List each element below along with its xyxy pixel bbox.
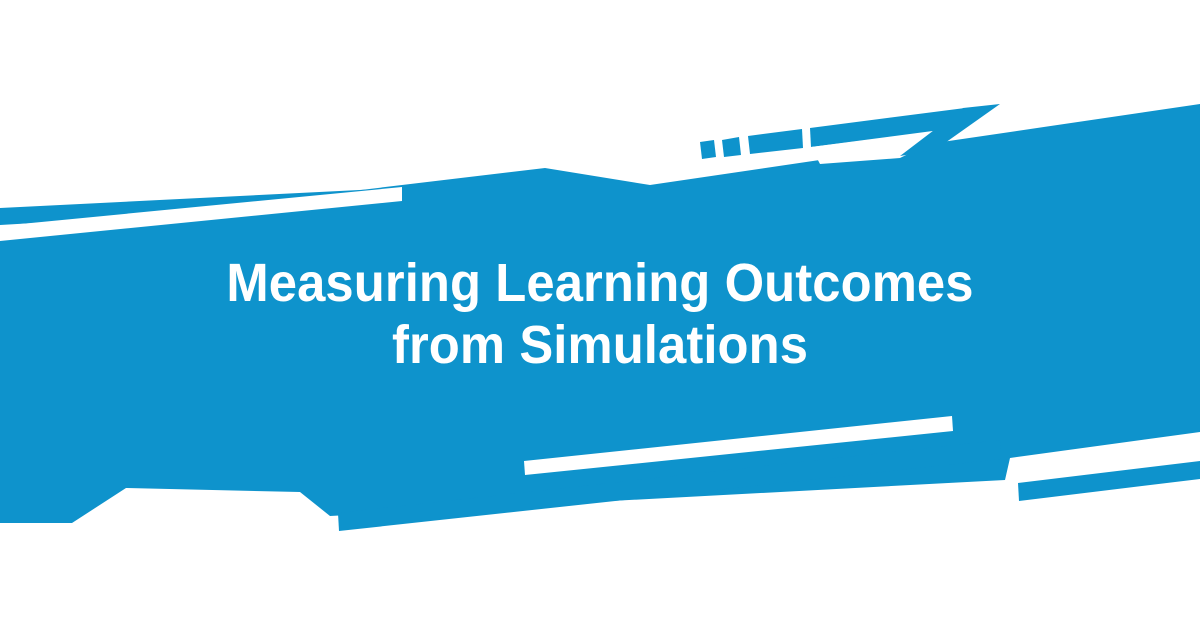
dash-1-icon xyxy=(700,140,716,159)
banner-graphic: Measuring Learning Outcomes from Simulat… xyxy=(0,0,1200,630)
dash-3-icon xyxy=(748,129,803,154)
dash-2-icon xyxy=(722,137,741,157)
banner-background-art xyxy=(0,0,1200,630)
